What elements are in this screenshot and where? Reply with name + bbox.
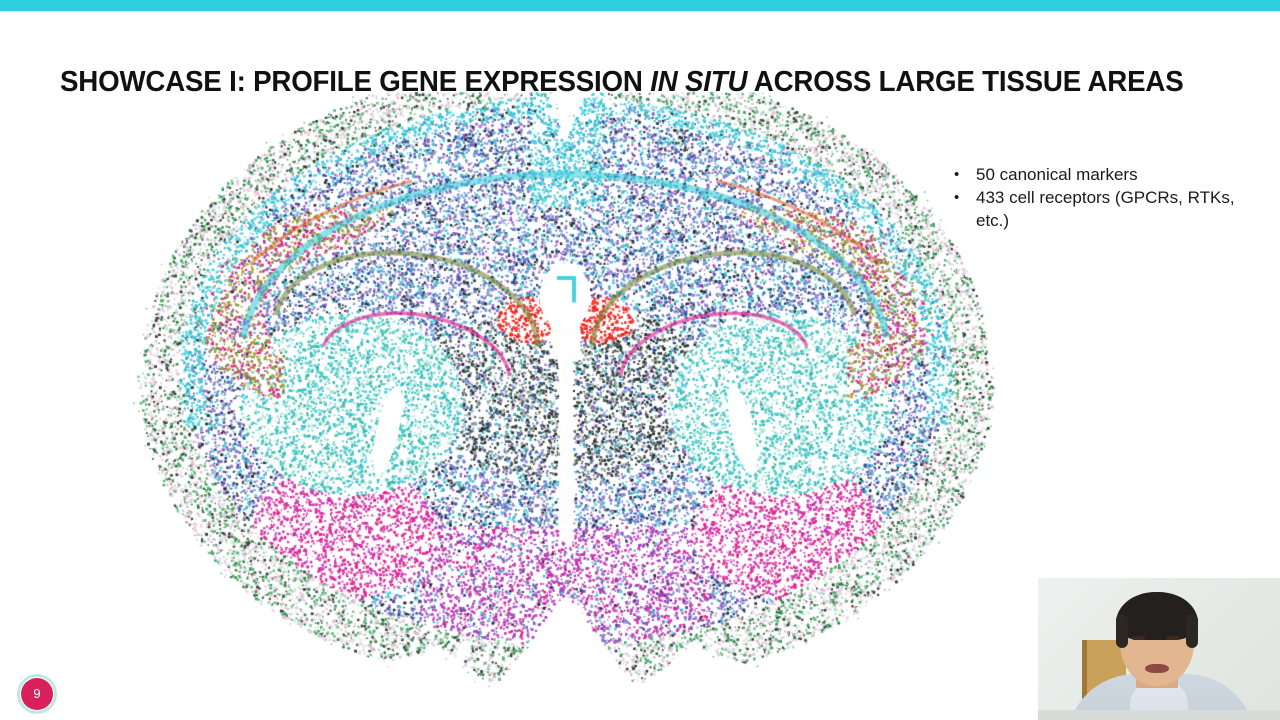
list-item-label: 433 cell receptors (GPCRs, RTKs, etc.) [976, 186, 1270, 232]
presenter-hair-left [1116, 614, 1128, 648]
list-item: • 50 canonical markers [950, 163, 1270, 186]
list-item: • 433 cell receptors (GPCRs, RTKs, etc.) [950, 186, 1270, 232]
presenter-video-overlay[interactable] [1038, 578, 1280, 720]
bullet-marker-icon: • [950, 163, 976, 186]
video-desk [1038, 710, 1280, 720]
badge-number: 9 [21, 678, 53, 710]
accent-bar [0, 0, 1280, 11]
brain-section-figure [110, 92, 1020, 702]
presenter-mouth [1145, 664, 1169, 673]
presenter-eye-left [1132, 636, 1145, 640]
slide-number-badge: 9 [17, 674, 57, 714]
accent-bar-fade [0, 11, 1280, 14]
bullet-list: • 50 canonical markers • 433 cell recept… [950, 163, 1270, 232]
brain-scatter-canvas [110, 92, 1020, 702]
presenter-hair-right [1186, 614, 1198, 648]
list-item-label: 50 canonical markers [976, 163, 1270, 186]
bullet-marker-icon: • [950, 186, 976, 209]
presenter-eye-right [1166, 636, 1179, 640]
slide-canvas: SHOWCASE I: PROFILE GENE EXPRESSION IN S… [0, 0, 1280, 720]
